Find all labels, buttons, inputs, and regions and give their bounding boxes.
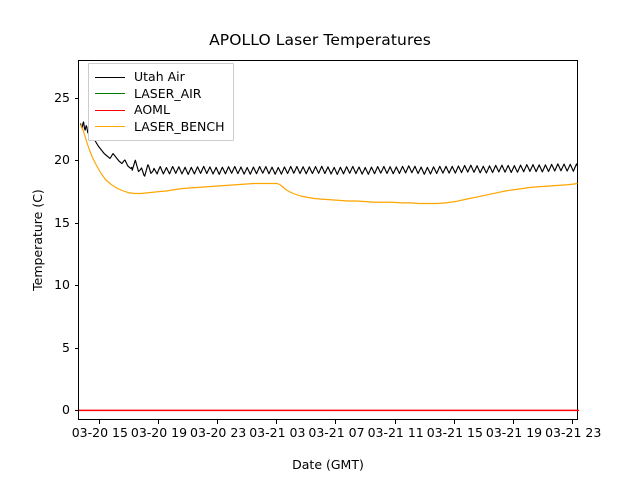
x-tick-label: 03-21 23	[545, 425, 601, 440]
y-tick-label: 15	[28, 215, 70, 230]
x-tick-label: 03-20 15	[72, 425, 128, 440]
legend-line-swatch	[95, 126, 125, 127]
matplotlib-figure: APOLLO Laser Temperatures Temperature (C…	[0, 0, 640, 480]
y-tick-label: 10	[28, 277, 70, 292]
legend-label: Utah Air	[134, 69, 185, 86]
x-tick-label: 03-21 07	[308, 425, 364, 440]
chart-legend: Utah AirLASER_AIRAOMLLASER_BENCH	[88, 63, 234, 141]
x-tick-label: 03-21 19	[486, 425, 542, 440]
x-tick-label: 03-21 11	[368, 425, 424, 440]
y-tick-label: 20	[28, 152, 70, 167]
x-tick-label: 03-21 15	[427, 425, 483, 440]
legend-entry: AOML	[95, 102, 225, 119]
x-tick-label: 03-20 23	[190, 425, 246, 440]
legend-line-swatch	[95, 93, 125, 94]
x-tick-label: 03-21 03	[249, 425, 305, 440]
x-tick-label: 03-20 19	[131, 425, 187, 440]
legend-entry: LASER_BENCH	[95, 119, 225, 136]
y-tick-label: 25	[28, 90, 70, 105]
y-axis-label: Temperature (C)	[30, 60, 45, 420]
legend-label: LASER_AIR	[134, 86, 202, 103]
y-tick-label: 5	[28, 340, 70, 355]
legend-line-swatch	[95, 110, 125, 111]
y-tick-label: 0	[28, 402, 70, 417]
legend-label: AOML	[134, 102, 170, 119]
legend-entry: Utah Air	[95, 69, 225, 86]
x-axis-label: Date (GMT)	[78, 457, 578, 472]
legend-label: LASER_BENCH	[134, 119, 225, 136]
legend-line-swatch	[95, 77, 125, 78]
legend-entry: LASER_AIR	[95, 86, 225, 103]
chart-title: APOLLO Laser Temperatures	[0, 31, 640, 49]
